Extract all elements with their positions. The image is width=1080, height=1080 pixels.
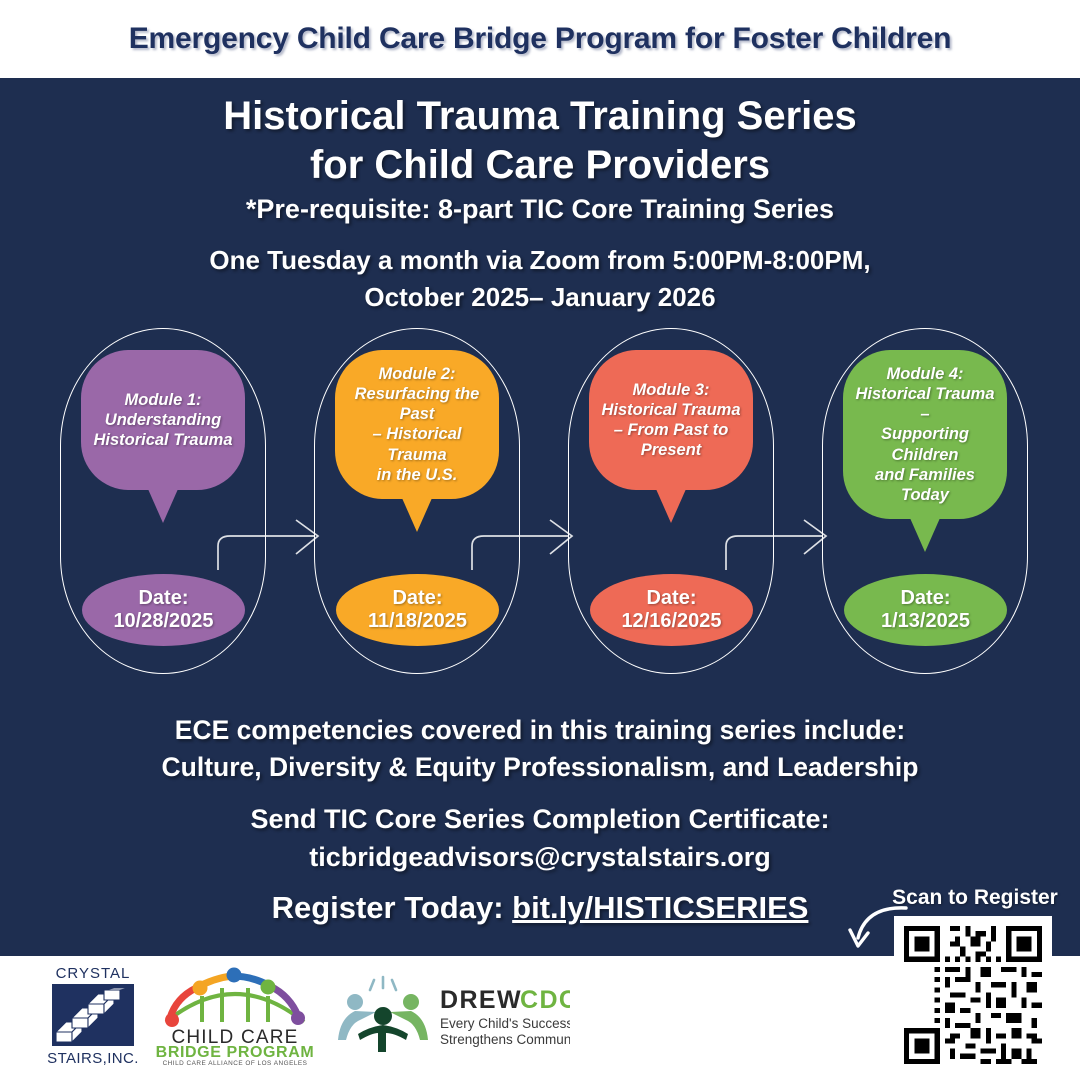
module-title-4: Module 4: Historical Trauma – Supporting… [851,364,999,505]
drew-tagline1: Every Child's Success [440,1016,570,1031]
ccbp-line3: CHILD CARE ALLIANCE OF LOS ANGELES [163,1060,308,1067]
module-bubble-tail-4 [910,518,940,552]
register-prefix: Register Today: [272,890,513,925]
module-bubble-3: Module 3: Historical Trauma – From Past … [589,350,753,490]
certificate-line1: Send TIC Core Series Completion Certific… [0,800,1080,838]
hero-title-line1: Historical Trauma Training Series [0,92,1080,141]
module-date-3: Date: 12/16/2025 [621,587,721,633]
module-date-badge-3: Date: 12/16/2025 [590,574,753,646]
crystal-stairs-top-text: CRYSTAL [56,965,131,982]
prerequisite-note: *Pre-requisite: 8-part TIC Core Training… [0,194,1080,225]
certificate-instructions: Send TIC Core Series Completion Certific… [0,800,1080,877]
module-card-2[interactable]: Module 2: Resurfacing the Past – Histori… [292,326,542,676]
module-flow: Module 1: Understanding Historical Traum… [0,326,1080,676]
module-card-4[interactable]: Module 4: Historical Trauma – Supporting… [800,326,1050,676]
module-title-3: Module 3: Historical Trauma – From Past … [601,380,740,461]
hero-title: Historical Trauma Training Series for Ch… [0,92,1080,190]
qr-code[interactable] [894,916,1052,1074]
module-bubble-tail-1 [148,489,178,523]
drew-cdc-logo: DREW CDC Every Child's Success Strengthe… [330,974,570,1058]
drew-name1: DREW [440,986,522,1014]
register-link[interactable]: bit.ly/HISTICSERIES [512,890,808,925]
drew-name2: CDC [520,986,570,1014]
module-date-4: Date: 1/13/2025 [881,587,970,633]
module-title-1: Module 1: Understanding Historical Traum… [93,390,232,450]
crystal-stairs-bottom-text: STAIRS,INC. [47,1050,139,1067]
module-date-badge-1: Date: 10/28/2025 [82,574,245,646]
certificate-email[interactable]: ticbridgeadvisors@crystalstairs.org [0,838,1080,876]
module-card-3[interactable]: Module 3: Historical Trauma – From Past … [546,326,796,676]
module-date-2: Date: 11/18/2025 [368,587,467,633]
ece-line1: ECE competencies covered in this trainin… [0,712,1080,749]
crystal-stairs-logo: CRYSTAL STAIRS,INC. [38,960,148,1072]
header-band: Emergency Child Care Bridge Program for … [0,0,1080,78]
module-bubble-4: Module 4: Historical Trauma – Supporting… [843,350,1007,519]
module-date-badge-2: Date: 11/18/2025 [336,574,499,646]
hero-title-line2: for Child Care Providers [0,141,1080,190]
child-care-bridge-program-logo: CHILD CARE BRIDGE PROGRAM CHILD CARE ALL… [152,964,318,1068]
module-bubble-2: Module 2: Resurfacing the Past – Histori… [335,350,499,499]
schedule-info: One Tuesday a month via Zoom from 5:00PM… [0,242,1080,316]
schedule-line1: One Tuesday a month via Zoom from 5:00PM… [0,242,1080,279]
flyer-canvas: Emergency Child Care Bridge Program for … [0,0,1080,1080]
ece-competencies: ECE competencies covered in this trainin… [0,712,1080,786]
drew-tagline2: Strengthens Community [440,1032,570,1047]
schedule-line2: October 2025– January 2026 [0,279,1080,316]
main-navy-panel: Historical Trauma Training Series for Ch… [0,78,1080,956]
module-bubble-1: Module 1: Understanding Historical Traum… [81,350,245,490]
module-card-1[interactable]: Module 1: Understanding Historical Traum… [38,326,288,676]
ece-line2: Culture, Diversity & Equity Professional… [0,749,1080,786]
program-title: Emergency Child Care Bridge Program for … [129,22,952,56]
module-date-badge-4: Date: 1/13/2025 [844,574,1007,646]
module-bubble-tail-2 [402,498,432,532]
ccbp-line2: BRIDGE PROGRAM [156,1044,315,1061]
module-title-2: Module 2: Resurfacing the Past – Histori… [343,364,491,485]
module-bubble-tail-3 [656,489,686,523]
module-date-1: Date: 10/28/2025 [113,587,213,633]
